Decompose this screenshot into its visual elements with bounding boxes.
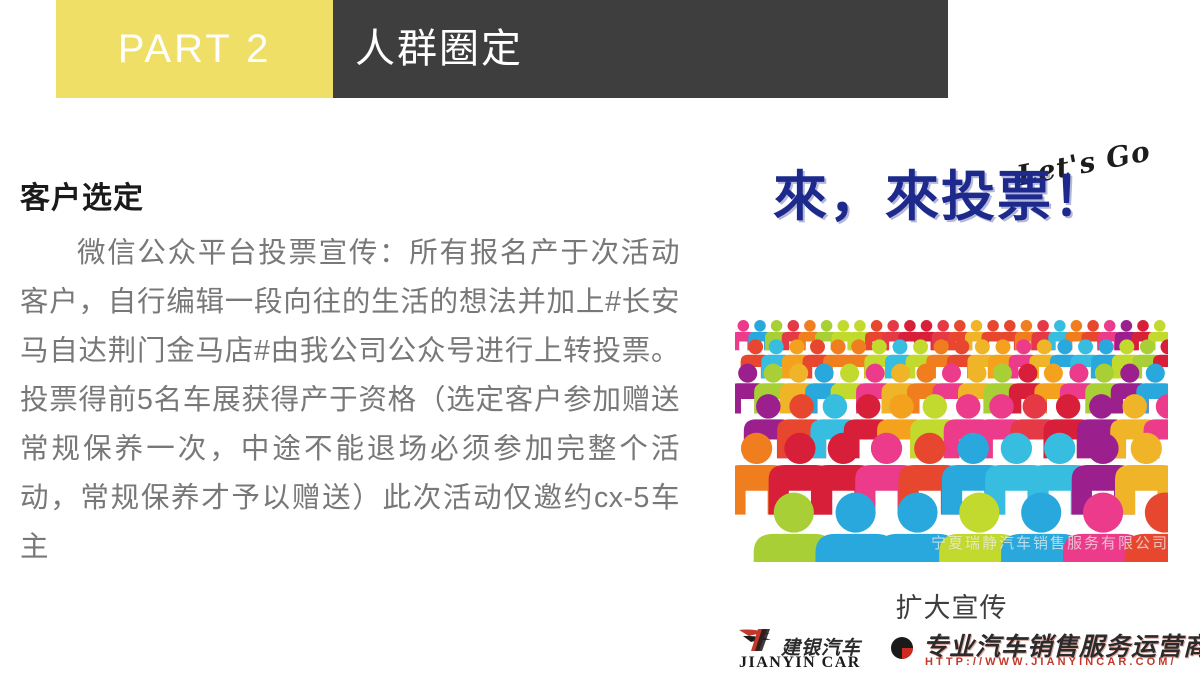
content-text-column: 客户选定 微信公众平台投票宣传：所有报名产于次活动客户，自行编辑一段向往的生活的… xyxy=(20,182,680,572)
part-number-box: PART 2 xyxy=(56,0,333,98)
tagline-block: 专业汽车销售服务运营商 HTTP://WWW.JIANYINCAR.COM/ xyxy=(923,625,1195,671)
part-number-label: PART 2 xyxy=(118,29,272,69)
brand-swoosh-icon xyxy=(737,627,783,655)
promo-image: Let's Go 來，來投票！ 宁夏瑞静汽车销售服务有限公司 xyxy=(735,122,1168,570)
section-title-box: 人群圈定 xyxy=(333,0,948,98)
crowd-illustration xyxy=(735,262,1168,562)
section-title-label: 人群圈定 xyxy=(355,29,523,69)
brand-english-name: JIANYIN CAR xyxy=(739,654,861,672)
content-paragraph: 微信公众平台投票宣传：所有报名产于次活动客户，自行编辑一段向往的生活的想法并加上… xyxy=(20,229,680,572)
brand-logo: 建银汽车 JIANYIN CAR xyxy=(737,625,885,671)
promo-headline-text: 來，來投票！ xyxy=(773,170,1109,224)
bullet-separator-icon xyxy=(891,637,913,659)
image-caption: 扩大宣传 xyxy=(735,586,1168,625)
promo-headline-area: Let's Go 來，來投票！ xyxy=(735,122,1168,272)
tagline-url: HTTP://WWW.JIANYINCAR.COM/ xyxy=(925,656,1177,668)
slide-header-band: PART 2 人群圈定 xyxy=(56,0,948,98)
promo-watermark: 宁夏瑞静汽车销售服务有限公司 xyxy=(931,532,1168,553)
content-heading: 客户选定 xyxy=(20,182,680,215)
footer-logo-bar: 建银汽车 JIANYIN CAR 专业汽车销售服务运营商 HTTP://WWW.… xyxy=(737,624,1195,672)
